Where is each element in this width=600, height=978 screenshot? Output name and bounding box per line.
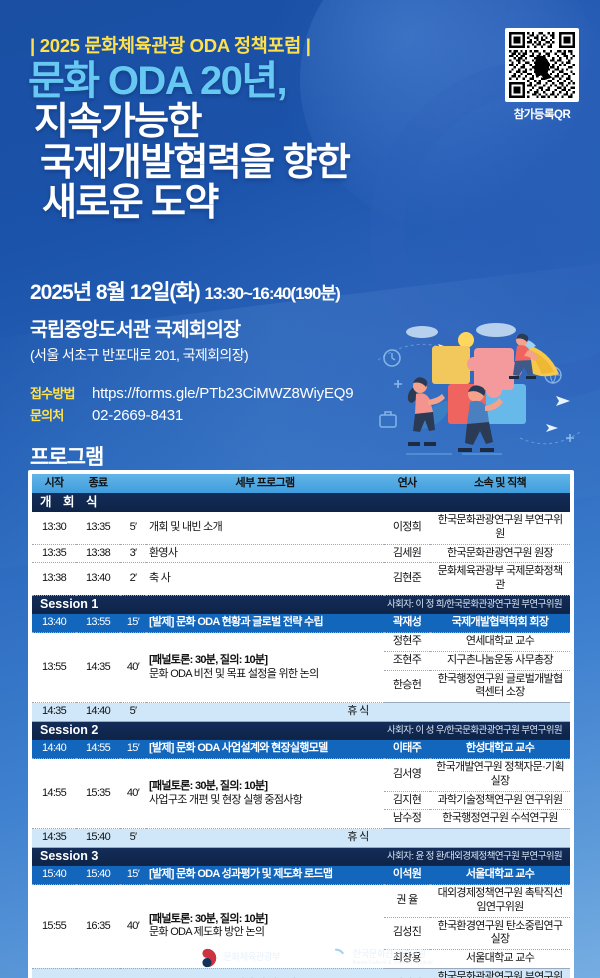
headline-line-4: 새로운 도약 — [28, 183, 498, 223]
program-subtitle: 사업구조 개편 및 현장 실행 중점사항 — [149, 794, 381, 808]
cell-speaker: 이석원 — [384, 866, 430, 884]
cell-affiliation: 지구촌나눔운동 사무총장 — [430, 651, 570, 670]
cell-program: [패널토론: 30분, 질의: 10분]사업구조 개편 및 현장 실행 중점사항 — [146, 759, 384, 829]
cell-end: 14:55 — [76, 740, 120, 758]
cell-end: 13:55 — [76, 614, 120, 632]
table-row: 15:4015:4015′[발제] 문화 ODA 성과평가 및 제도화 로드맵이… — [32, 866, 570, 884]
cell-affiliation: 한국환경연구원 탄소중립연구실장 — [430, 917, 570, 950]
program-subtitle: 문화 ODA 제도화 방안 논의 — [149, 926, 381, 940]
col-end: 종료 — [76, 474, 120, 493]
cell-end: 14:35 — [76, 633, 120, 703]
break-row: 14:3515:405′휴 식 — [32, 829, 570, 848]
inquiry-label: 문의처 — [30, 405, 92, 424]
host-name: 문화체육관광부 — [223, 953, 280, 963]
cell-program: 축 사 — [146, 563, 384, 596]
session-bar-row: 개 회 식 — [32, 493, 570, 512]
session-bar-cell: Session 1사회자: 이 정 희/한국문화관광연구원 부연구위원 — [32, 595, 570, 614]
cell-start: 14:35 — [32, 703, 76, 722]
table-row: 13:3013:355′개회 및 내빈 소개이정희한국문화관광연구원 부연구위원 — [32, 512, 570, 544]
cell-start: 14:40 — [32, 740, 76, 758]
cell-affiliation: 한국문화관광연구원 부연구위원 — [430, 512, 570, 544]
cell-duration: 40′ — [120, 633, 146, 703]
cell-affiliation: 한국문화관광연구원 원장 — [430, 544, 570, 563]
cell-affiliation: 연세대학교 교수 — [430, 633, 570, 652]
cell-duration: 15′ — [120, 740, 146, 758]
page-title: 문화 ODA 20년, 지속가능한 국제개발협력을 향한 새로운 도약 — [28, 60, 498, 223]
event-time: 13:30~16:40(190분) — [205, 284, 340, 303]
cell-end: 13:35 — [76, 512, 120, 544]
col-detail-program: 세부 프로그램 — [146, 474, 384, 493]
cell-start: 13:30 — [32, 512, 76, 544]
session-bar-cell: Session 3사회자: 윤 정 환/대외경제정책연구원 부연구위원 — [32, 847, 570, 866]
cell-break-label: 휴 식 — [146, 703, 570, 722]
cell-speaker: 남수정 — [384, 810, 430, 829]
cell-affiliation: 한국행정연구원 글로벌개발협력센터 소장 — [430, 670, 570, 703]
program-table-head: 시작 종료 세부 프로그램 연사 소속 및 직책 — [32, 474, 570, 493]
cell-start: 13:38 — [32, 563, 76, 596]
cell-affiliation: 대외경제정책연구원 촉탁직선임연구위원 — [430, 885, 570, 918]
circle-mark-icon — [326, 948, 346, 968]
cell-speaker: 김성진 — [384, 917, 430, 950]
break-row: 14:3514:405′휴 식 — [32, 703, 570, 722]
cell-duration: 5′ — [120, 968, 146, 978]
col-start: 시작 — [32, 474, 76, 493]
cell-duration: 5′ — [120, 512, 146, 544]
col-duration — [120, 474, 146, 493]
cell-speaker: 김지현 — [384, 791, 430, 810]
cell-speaker: 김서영 — [384, 759, 430, 792]
cell-program: [발제] 문화 ODA 성과평가 및 제도화 로드맵 — [146, 866, 384, 884]
session-bar-inner: 개 회 식 — [40, 495, 562, 511]
cell-end: 15:40 — [76, 829, 120, 848]
col-affiliation: 소속 및 직책 — [430, 474, 570, 493]
session-bar-row: Session 2사회자: 이 성 우/한국문화관광연구원 부연구위원 — [32, 721, 570, 740]
event-datetime: 2025년 8월 12일(화) 13:30~16:40(190분) — [30, 276, 430, 306]
program-table: 시작 종료 세부 프로그램 연사 소속 및 직책 개 회 식13:3013:35… — [32, 474, 570, 978]
session-chair: 사회자: 이 성 우/한국문화관광연구원 부연구위원 — [387, 725, 562, 737]
cell-duration: 5′ — [120, 703, 146, 722]
cell-break-label: 휴 식 — [146, 829, 570, 848]
cell-program: [패널토론: 30분, 질의: 10분]문화 ODA 비전 및 목표 설정을 위… — [146, 633, 384, 703]
cell-end: 15:35 — [76, 759, 120, 829]
cell-start: 13:40 — [32, 614, 76, 632]
cell-affiliation: 한성대학교 교수 — [430, 740, 570, 758]
inquiry-phone[interactable]: 02-2669-8431 — [92, 407, 183, 424]
organizer-label: 주관 — [296, 950, 320, 966]
cell-start: 13:35 — [32, 544, 76, 563]
session-bar-inner: Session 1사회자: 이 정 희/한국문화관광연구원 부연구위원 — [40, 597, 562, 613]
sponsor-footer: 주최 문화체육관광부 주관 한국문화관광연구원 Korea Cultur — [0, 948, 600, 968]
puzzle-teamwork-illustration — [370, 320, 600, 465]
table-row: 13:4013:5515′[발제] 문화 ODA 현황과 글로벌 전략 수립곽재… — [32, 614, 570, 632]
registration-label: 접수방법 — [30, 383, 92, 402]
cell-end: 15:40 — [76, 866, 120, 884]
program-table-frame: 시작 종료 세부 프로그램 연사 소속 및 직책 개 회 식13:3013:35… — [28, 470, 574, 978]
registration-link[interactable]: https://forms.gle/PTb23CiMWZ8WiyEQ9 — [92, 385, 353, 402]
cell-speaker: 한승헌 — [384, 670, 430, 703]
session-chair: 사회자: 이 정 희/한국문화관광연구원 부연구위원 — [387, 599, 562, 611]
table-row: 13:5514:3540′[패널토론: 30분, 질의: 10분]문화 ODA … — [32, 633, 570, 652]
headline-line-2: 지속가능한 — [28, 102, 498, 142]
program-title-bold: [패널토론: 30분, 질의: 10분] — [149, 780, 381, 794]
organizer-name-ko: 한국문화관광연구원 — [352, 949, 425, 960]
event-date: 2025년 8월 12일(화) — [30, 281, 200, 304]
cell-affiliation: 서울대학교 교수 — [430, 866, 570, 884]
table-row: 16:3516:405′폐회 및 마무리이정희한국문화관광연구원 부연구위원 — [32, 968, 570, 978]
host-label: 주최 — [167, 950, 191, 966]
cell-speaker: 조현주 — [384, 651, 430, 670]
session-bar-cell: 개 회 식 — [32, 493, 570, 512]
cell-end: 13:40 — [76, 563, 120, 596]
session-chair: 사회자: 윤 정 환/대외경제정책연구원 부연구위원 — [387, 851, 562, 863]
cell-speaker: 이정희 — [384, 512, 430, 544]
cell-duration: 2′ — [120, 563, 146, 596]
cell-duration: 3′ — [120, 544, 146, 563]
taegeuk-icon — [197, 948, 217, 968]
cell-speaker: 정현주 — [384, 633, 430, 652]
cell-speaker: 이정희 — [384, 968, 430, 978]
cell-end: 16:40 — [76, 968, 120, 978]
cell-affiliation: 한국개발연구원 정책자문·기획실장 — [430, 759, 570, 792]
cell-program: 폐회 및 마무리 — [146, 968, 384, 978]
host-group: 주최 문화체육관광부 — [167, 948, 280, 968]
table-row: 14:4014:5515′[발제] 문화 ODA 사업설계와 현장실행모델이태주… — [32, 740, 570, 758]
program-table-body: 개 회 식13:3013:355′개회 및 내빈 소개이정희한국문화관광연구원 … — [32, 493, 570, 978]
cell-program: [발제] 문화 ODA 현황과 글로벌 전략 수립 — [146, 614, 384, 632]
table-row: 15:5516:3540′[패널토론: 30분, 질의: 10분]문화 ODA … — [32, 885, 570, 918]
col-speaker: 연사 — [384, 474, 430, 493]
session-bar-cell: Session 2사회자: 이 성 우/한국문화관광연구원 부연구위원 — [32, 721, 570, 740]
program-title-bold: [패널토론: 30분, 질의: 10분] — [149, 654, 381, 668]
session-name: Session 3 — [40, 849, 98, 865]
cell-duration: 15′ — [120, 614, 146, 632]
cell-speaker: 권 율 — [384, 885, 430, 918]
cell-affiliation: 문화체육관광부 국제문화정책관 — [430, 563, 570, 596]
session-name: 개 회 식 — [40, 495, 101, 511]
cell-speaker: 곽재성 — [384, 614, 430, 632]
organizer-name-en: Korea Culture & Tourism Institute — [352, 960, 433, 966]
program-title-bold: [패널토론: 30분, 질의: 10분] — [149, 913, 381, 927]
cell-start: 14:35 — [32, 829, 76, 848]
headline-line-1: 문화 ODA 20년, — [28, 60, 498, 102]
cell-speaker: 김현준 — [384, 563, 430, 596]
table-header-row: 시작 종료 세부 프로그램 연사 소속 및 직책 — [32, 474, 570, 493]
cell-affiliation: 과학기술정책연구원 연구위원 — [430, 791, 570, 810]
qr-code-icon[interactable] — [505, 28, 579, 102]
cell-speaker: 김세원 — [384, 544, 430, 563]
organizer-name: 한국문화관광연구원 Korea Culture & Tourism Instit… — [352, 950, 433, 966]
cell-start: 15:40 — [32, 866, 76, 884]
cell-affiliation: 한국행정연구원 수석연구원 — [430, 810, 570, 829]
cell-program: 개회 및 내빈 소개 — [146, 512, 384, 544]
cell-duration: 40′ — [120, 759, 146, 829]
session-name: Session 2 — [40, 723, 98, 739]
program-subtitle: 문화 ODA 비전 및 목표 설정을 위한 논의 — [149, 668, 381, 682]
cell-speaker: 이태주 — [384, 740, 430, 758]
headline-line-3: 국제개발협력을 향한 — [28, 143, 498, 183]
session-bar-inner: Session 3사회자: 윤 정 환/대외경제정책연구원 부연구위원 — [40, 849, 562, 865]
qr-label: 참가등록QR — [500, 106, 584, 122]
cell-program: [발제] 문화 ODA 사업설계와 현장실행모델 — [146, 740, 384, 758]
cell-end: 14:40 — [76, 703, 120, 722]
cell-start: 13:55 — [32, 633, 76, 703]
session-bar-inner: Session 2사회자: 이 성 우/한국문화관광연구원 부연구위원 — [40, 723, 562, 739]
session-bar-row: Session 3사회자: 윤 정 환/대외경제정책연구원 부연구위원 — [32, 847, 570, 866]
cell-affiliation: 국제개발협력학회 회장 — [430, 614, 570, 632]
event-kicker: | 2025 문화체육관광 ODA 정책포럼 | — [30, 32, 311, 58]
organizer-group: 주관 한국문화관광연구원 Korea Culture & Tourism Ins… — [296, 948, 433, 968]
poster-root: | 2025 문화체육관광 ODA 정책포럼 | 문화 ODA 20년, 지속가… — [0, 0, 600, 978]
cell-duration: 15′ — [120, 866, 146, 884]
table-row: 14:5515:3540′[패널토론: 30분, 질의: 10분]사업구조 개편… — [32, 759, 570, 792]
cell-affiliation: 한국문화관광연구원 부연구위원 — [430, 968, 570, 978]
table-row: 13:3513:383′환영사김세원한국문화관광연구원 원장 — [32, 544, 570, 563]
qr-registration-block[interactable]: 참가등록QR — [500, 28, 584, 122]
cell-end: 13:38 — [76, 544, 120, 563]
cell-start: 14:55 — [32, 759, 76, 829]
session-bar-row: Session 1사회자: 이 정 희/한국문화관광연구원 부연구위원 — [32, 595, 570, 614]
cell-program: 환영사 — [146, 544, 384, 563]
session-name: Session 1 — [40, 597, 98, 613]
table-row: 13:3813:402′축 사김현준문화체육관광부 국제문화정책관 — [32, 563, 570, 596]
cell-duration: 5′ — [120, 829, 146, 848]
cell-start: 16:35 — [32, 968, 76, 978]
